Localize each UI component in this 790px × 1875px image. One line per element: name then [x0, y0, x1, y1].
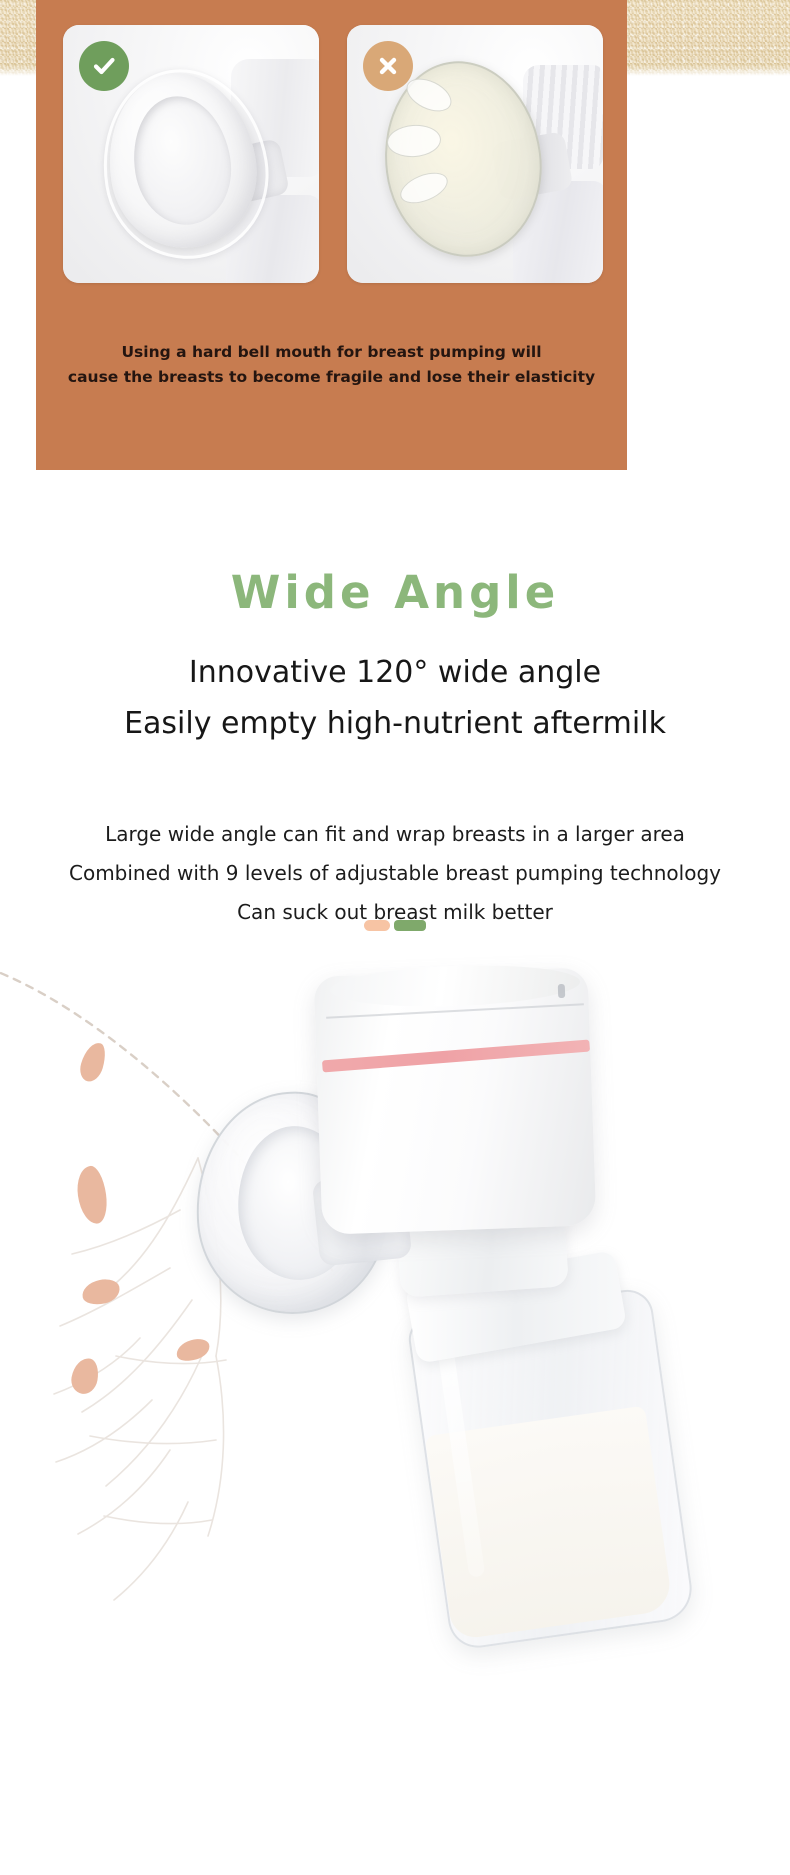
caption-line-1: Using a hard bell mouth for breast pumpi… [36, 340, 627, 365]
comparison-panel: Using a hard bell mouth for breast pumpi… [36, 0, 627, 470]
motor-button[interactable] [558, 984, 565, 998]
bad-example-card [347, 25, 603, 283]
product-photo-scene [0, 950, 790, 1875]
wide-angle-body-3: Can suck out breast milk better [0, 900, 790, 924]
check-badge [79, 41, 129, 91]
caption-line-2: cause the breasts to become fragile and … [36, 365, 627, 390]
wide-angle-body-1: Large wide angle can fit and wrap breast… [0, 822, 790, 846]
comparison-card-row [63, 25, 603, 283]
pump-motor-unit [314, 967, 597, 1234]
wide-angle-subtitle-2: Easily empty high-nutrient aftermilk [0, 706, 790, 741]
cross-icon [375, 53, 401, 79]
wide-angle-title: Wide Angle [0, 566, 790, 619]
panel-caption: Using a hard bell mouth for breast pumpi… [36, 340, 627, 390]
cross-badge [363, 41, 413, 91]
wide-angle-body-2: Combined with 9 levels of adjustable bre… [0, 861, 790, 885]
check-icon [90, 52, 118, 80]
good-example-card [63, 25, 319, 283]
wide-angle-subtitle-1: Innovative 120° wide angle [0, 655, 790, 690]
